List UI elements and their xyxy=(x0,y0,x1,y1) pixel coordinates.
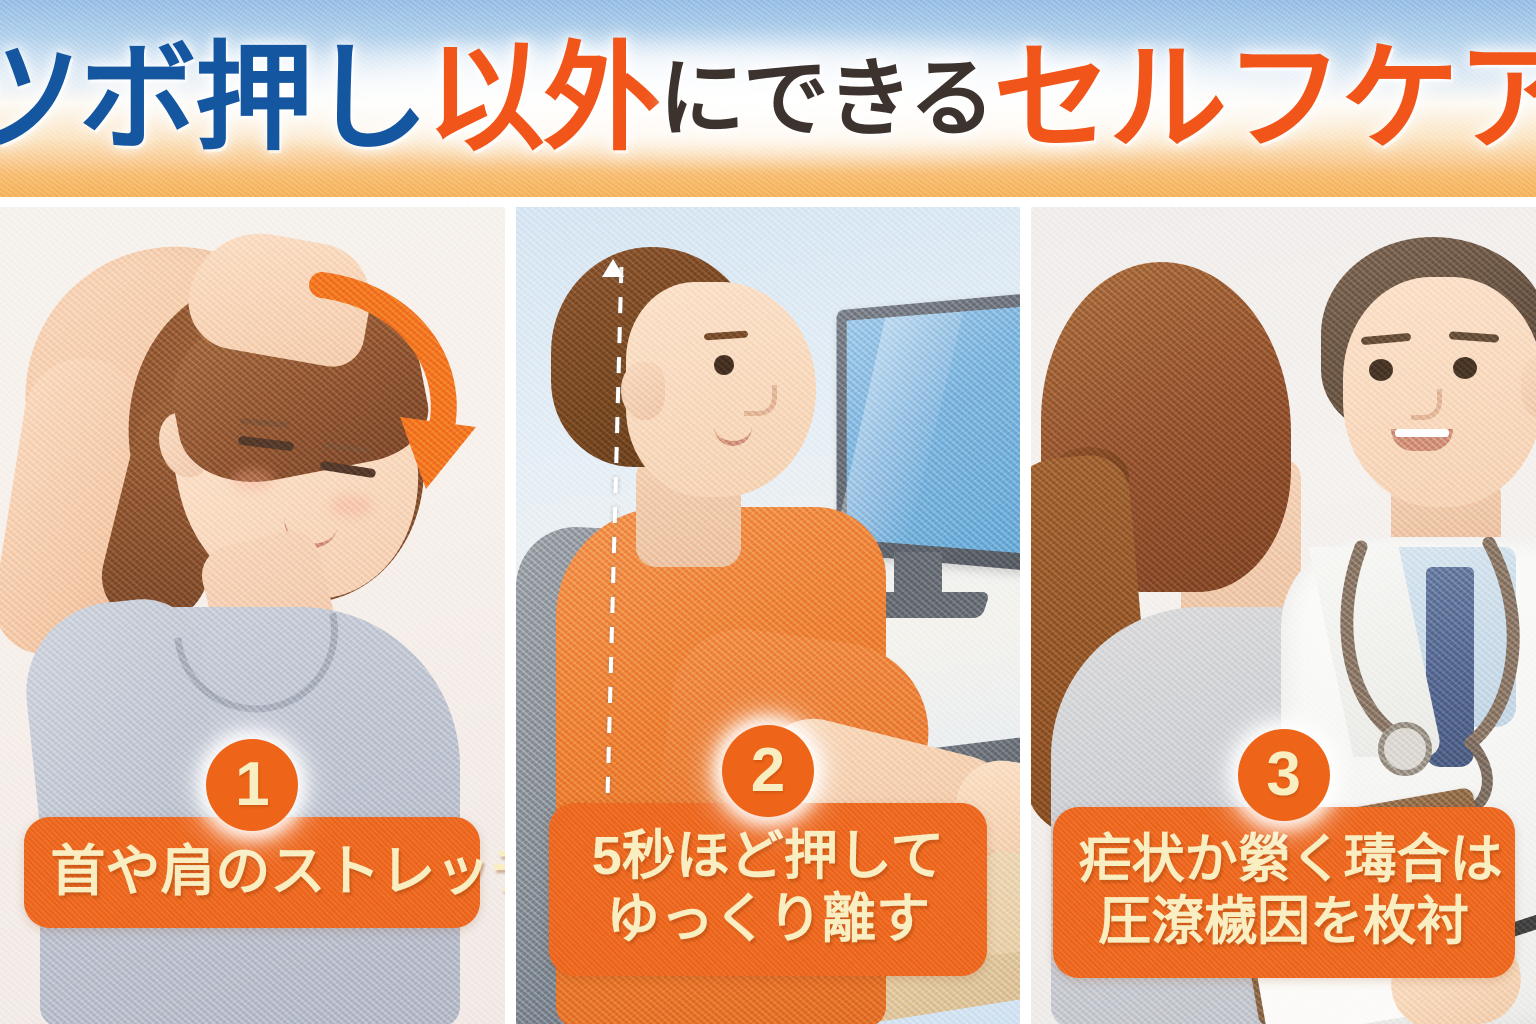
panel-3: 3 疟状か縈く瑇合は 圧潦檅因を枚衬 xyxy=(1031,207,1536,1024)
panel-3-caption-group: 3 疟状か縈く瑇合は 圧潦檅因を枚衬 xyxy=(1031,729,1536,1024)
panel-2: 2 5秒ほど押して ゆっくり離す xyxy=(516,207,1021,1024)
panel-1: 1 首や肩のストレッチ xyxy=(0,207,505,1024)
title-part-4: セルフケア xyxy=(993,40,1536,158)
panel-1-caption-line-1: 首や肩のストレッチ xyxy=(50,839,454,904)
woman-cheek-left xyxy=(232,469,274,491)
header-band: ツボ押し 以外 にできる セルフケア xyxy=(0,0,1536,197)
panel-2-step-number: 2 xyxy=(751,740,785,802)
title-part-2: 以外 xyxy=(427,40,659,158)
panel-2-caption-group: 2 5秒ほど押して ゆっくり離す xyxy=(516,725,1021,1024)
panel-1-caption-box: 首や肩のストレッチ xyxy=(24,817,480,928)
panel-3-caption-line-1: 疟状か縈く瑇合は xyxy=(1079,829,1489,892)
woman-cheek-right xyxy=(330,495,372,517)
monitor-screen xyxy=(846,306,1020,553)
panel-3-caption-box: 疟状か縈く瑇合は 圧潦檅因を枚衬 xyxy=(1053,807,1515,978)
title-part-1: ツボ押し xyxy=(0,40,427,158)
panel-2-caption-box: 5秒ほど押して ゆっくり離す xyxy=(549,803,987,976)
infographic-root: ツボ押し 以外 にできる セルフケア xyxy=(0,0,1536,1024)
panel-1-caption-group: 1 首や肩のストレッチ xyxy=(0,739,505,1024)
posture-up-arrow-icon xyxy=(602,259,624,277)
man-ear xyxy=(621,362,665,420)
panel-2-caption-line-1: 5秒ほど押して xyxy=(575,825,961,889)
page-title: ツボ押し 以外 にできる セルフケア xyxy=(0,0,1536,197)
panel-3-step-number: 3 xyxy=(1266,744,1300,806)
panel-1-step-badge: 1 xyxy=(206,739,298,831)
title-part-3: にできる xyxy=(659,56,993,142)
panel-1-step-number: 1 xyxy=(235,754,269,816)
curved-down-arrow-icon xyxy=(300,267,480,497)
panel-2-caption-line-2: ゆっくり離す xyxy=(575,888,961,952)
panel-3-step-badge: 3 xyxy=(1238,729,1330,821)
man-eye xyxy=(714,355,734,375)
panel-3-caption-line-2: 圧潦檅因を枚衬 xyxy=(1079,891,1489,954)
panel-row: 1 首や肩のストレッチ xyxy=(0,207,1536,1024)
panel-2-step-badge: 2 xyxy=(722,725,814,817)
